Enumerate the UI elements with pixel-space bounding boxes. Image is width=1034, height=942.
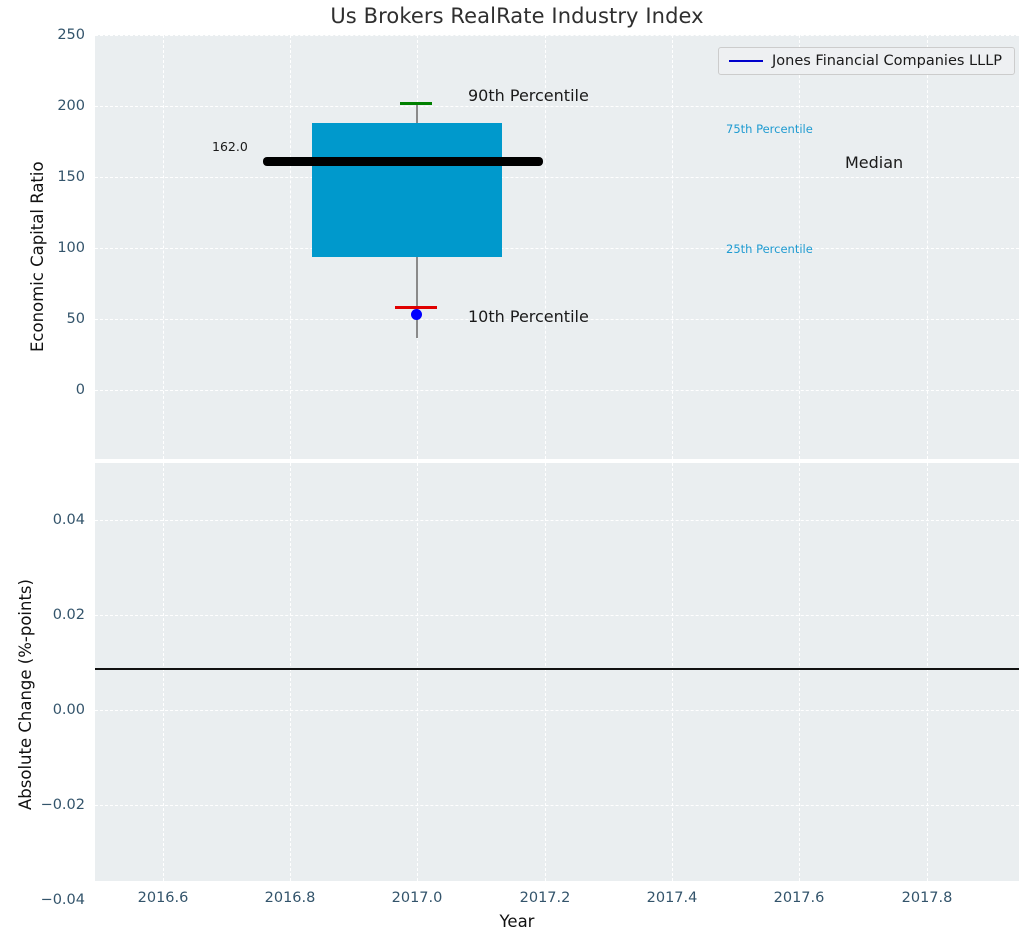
legend-line-icon bbox=[729, 60, 763, 62]
xtick-label-2016-6: 2016.6 bbox=[138, 890, 189, 906]
y-axis-label-economic-capital-ratio: Economic Capital Ratio bbox=[28, 161, 47, 352]
annotation-75th-percentile: 75th Percentile bbox=[726, 122, 813, 136]
gridline-x-2016-6 bbox=[163, 35, 164, 459]
legend[interactable]: Jones Financial Companies LLLP bbox=[718, 47, 1015, 75]
gridline-y-0-00 bbox=[95, 710, 1019, 711]
chart-figure: Us Brokers RealRate Industry Index 90th bbox=[0, 0, 1034, 942]
page-title: Us Brokers RealRate Industry Index bbox=[0, 4, 1034, 28]
xtick-label-2017-4: 2017.4 bbox=[647, 890, 698, 906]
gridline-x-2017-4-lower bbox=[672, 463, 673, 881]
annotation-10th-percentile: 10th Percentile bbox=[468, 307, 589, 326]
company-marker-jones-financial[interactable] bbox=[411, 309, 422, 320]
ytick-label-0-00: 0.00 bbox=[0, 702, 85, 718]
y-axis-label-absolute-change: Absolute Change (%-points) bbox=[16, 579, 35, 810]
xtick-label-2016-8: 2016.8 bbox=[265, 890, 316, 906]
annotation-median: Median bbox=[845, 153, 903, 172]
x-axis-label-year: Year bbox=[0, 912, 1034, 931]
gridline-x-2017-4 bbox=[672, 35, 673, 459]
gridline-x-2017-0-lower bbox=[417, 463, 418, 881]
median-bar bbox=[263, 157, 543, 166]
plot-area-economic-capital-ratio: 90th Percentile 75th Percentile Median 2… bbox=[95, 35, 1019, 459]
gridline-y-100 bbox=[95, 248, 1019, 249]
gridline-y-neg-0-02 bbox=[95, 805, 1019, 806]
ytick-label-0-04: 0.04 bbox=[0, 512, 85, 528]
gridline-x-2016-6-lower bbox=[163, 463, 164, 881]
gridline-y-0-02 bbox=[95, 615, 1019, 616]
xtick-label-2017-6: 2017.6 bbox=[774, 890, 825, 906]
gridline-x-2016-8 bbox=[290, 35, 291, 459]
legend-label-jones-financial: Jones Financial Companies LLLP bbox=[772, 53, 1002, 69]
annotation-25th-percentile: 25th Percentile bbox=[726, 242, 813, 256]
gridline-y-200 bbox=[95, 106, 1019, 107]
ytick-label-250: 250 bbox=[5, 27, 85, 43]
xtick-label-2017-2: 2017.2 bbox=[520, 890, 571, 906]
gridline-x-2017-8 bbox=[927, 35, 928, 459]
cap-90th-percentile bbox=[400, 102, 432, 105]
gridline-y-0-04 bbox=[95, 520, 1019, 521]
gridline-y-250 bbox=[95, 35, 1019, 36]
gridline-x-2016-8-lower bbox=[290, 463, 291, 881]
gridline-y-150 bbox=[95, 177, 1019, 178]
gridline-x-2017-8-lower bbox=[927, 463, 928, 881]
zero-reference-line bbox=[95, 668, 1019, 670]
gridline-x-2017-2-lower bbox=[545, 463, 546, 881]
annotation-90th-percentile: 90th Percentile bbox=[468, 86, 589, 105]
box-interquartile-range bbox=[312, 123, 502, 257]
median-value-label: 162.0 bbox=[212, 139, 248, 154]
ytick-label-neg-0-02: −0.02 bbox=[0, 797, 85, 813]
ytick-label-neg-0-04: −0.04 bbox=[0, 892, 85, 908]
plot-area-absolute-change bbox=[95, 463, 1019, 881]
ytick-label-200: 200 bbox=[5, 98, 85, 114]
xtick-label-2017-0: 2017.0 bbox=[392, 890, 443, 906]
ytick-label-0-02: 0.02 bbox=[0, 607, 85, 623]
gridline-x-2017-6-lower bbox=[799, 463, 800, 881]
xtick-label-2017-8: 2017.8 bbox=[902, 890, 953, 906]
gridline-y-0 bbox=[95, 390, 1019, 391]
ytick-label-0: 0 bbox=[5, 382, 85, 398]
